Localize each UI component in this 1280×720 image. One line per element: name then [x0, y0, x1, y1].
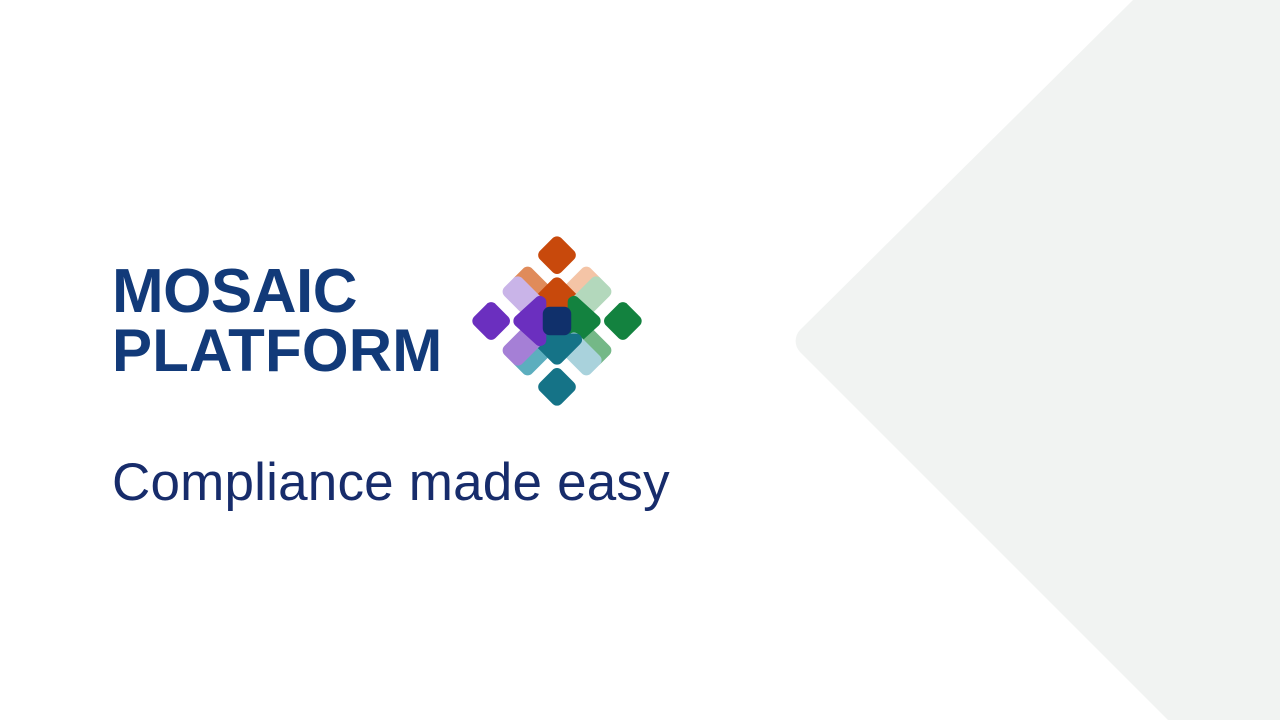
brand-lockup: MOSAIC PLATFORM [112, 232, 672, 513]
wordmark-row: MOSAIC PLATFORM [112, 232, 672, 410]
tile-right-outer [602, 300, 645, 343]
chevron-path [796, 0, 1280, 720]
wordmark: MOSAIC PLATFORM [112, 262, 442, 379]
tagline: Compliance made easy [112, 452, 672, 513]
wordmark-line-mosaic: MOSAIC [112, 262, 442, 322]
tile-center [543, 307, 571, 335]
wordmark-line-platform: PLATFORM [112, 322, 442, 380]
tile-left-outer [470, 300, 513, 343]
tile-top-outer [536, 234, 579, 277]
slide-canvas: MOSAIC PLATFORM [0, 0, 1280, 720]
mosaic-diamond-icon [468, 232, 646, 410]
tile-bottom-outer [536, 365, 579, 408]
